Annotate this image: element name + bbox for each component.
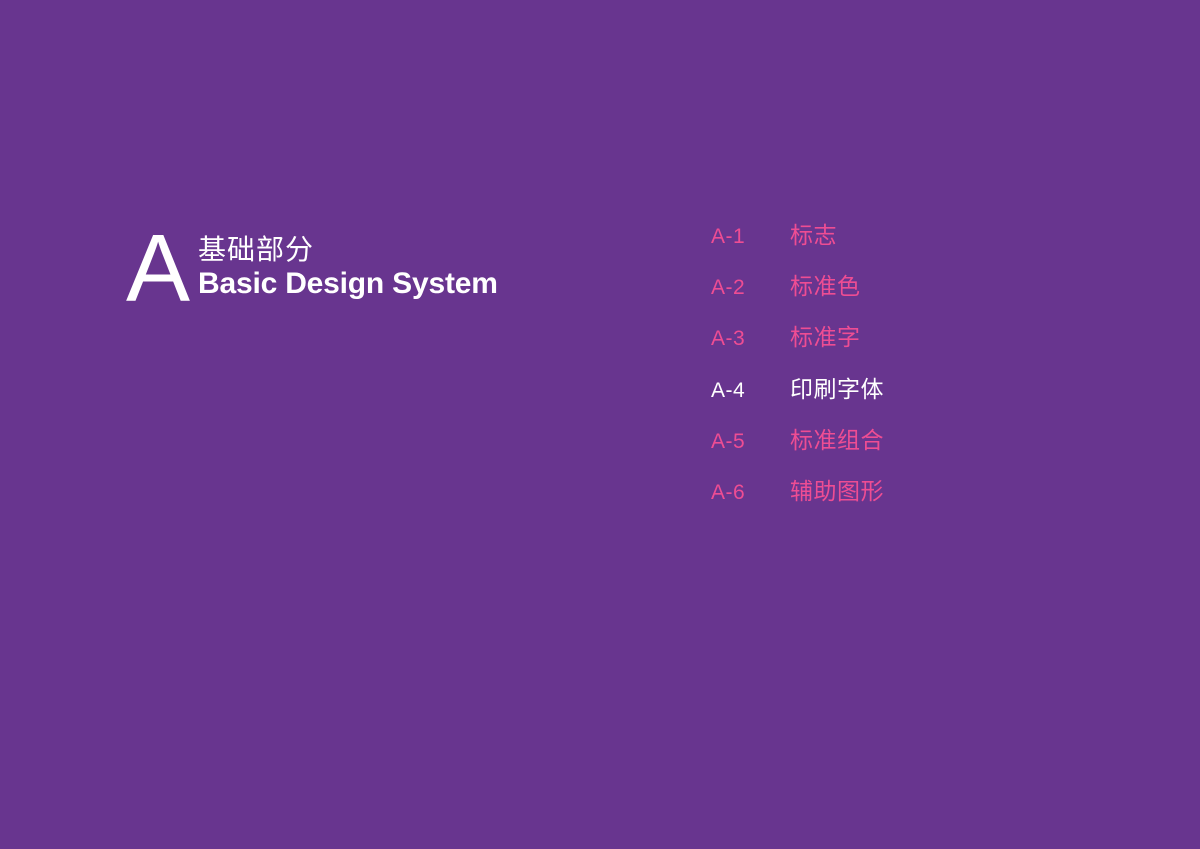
toc-item-code: A-3 xyxy=(711,328,790,349)
toc-item-label: 标准色 xyxy=(790,275,861,298)
toc-item-code: A-4 xyxy=(711,380,790,401)
section-heading: A 基础部分 Basic Design System xyxy=(126,225,498,311)
table-of-contents: A-1 标志 A-2 标准色 A-3 标准字 A-4 印刷字体 A-5 标准组合… xyxy=(711,224,1011,531)
slide-canvas: A 基础部分 Basic Design System A-1 标志 A-2 标准… xyxy=(0,0,1200,849)
toc-item-a-1[interactable]: A-1 标志 xyxy=(711,224,1011,275)
toc-item-a-6[interactable]: A-6 辅助图形 xyxy=(711,480,1011,531)
section-title-en: Basic Design System xyxy=(198,267,498,301)
section-title-cn: 基础部分 xyxy=(198,233,498,266)
toc-item-code: A-2 xyxy=(711,277,790,298)
toc-item-code: A-5 xyxy=(711,431,790,452)
toc-item-label: 标志 xyxy=(790,224,837,247)
toc-item-a-3[interactable]: A-3 标准字 xyxy=(711,326,1011,377)
toc-item-a-5[interactable]: A-5 标准组合 xyxy=(711,429,1011,480)
toc-item-code: A-1 xyxy=(711,226,790,247)
section-letter: A xyxy=(126,227,188,311)
toc-item-label: 辅助图形 xyxy=(790,480,884,503)
toc-item-label: 标准字 xyxy=(790,326,861,349)
section-title-group: 基础部分 Basic Design System xyxy=(198,225,498,301)
toc-item-a-2[interactable]: A-2 标准色 xyxy=(711,275,1011,326)
toc-item-code: A-6 xyxy=(711,482,790,503)
toc-item-a-4[interactable]: A-4 印刷字体 xyxy=(711,378,1011,429)
toc-item-label: 印刷字体 xyxy=(790,378,884,401)
toc-item-label: 标准组合 xyxy=(790,429,884,452)
